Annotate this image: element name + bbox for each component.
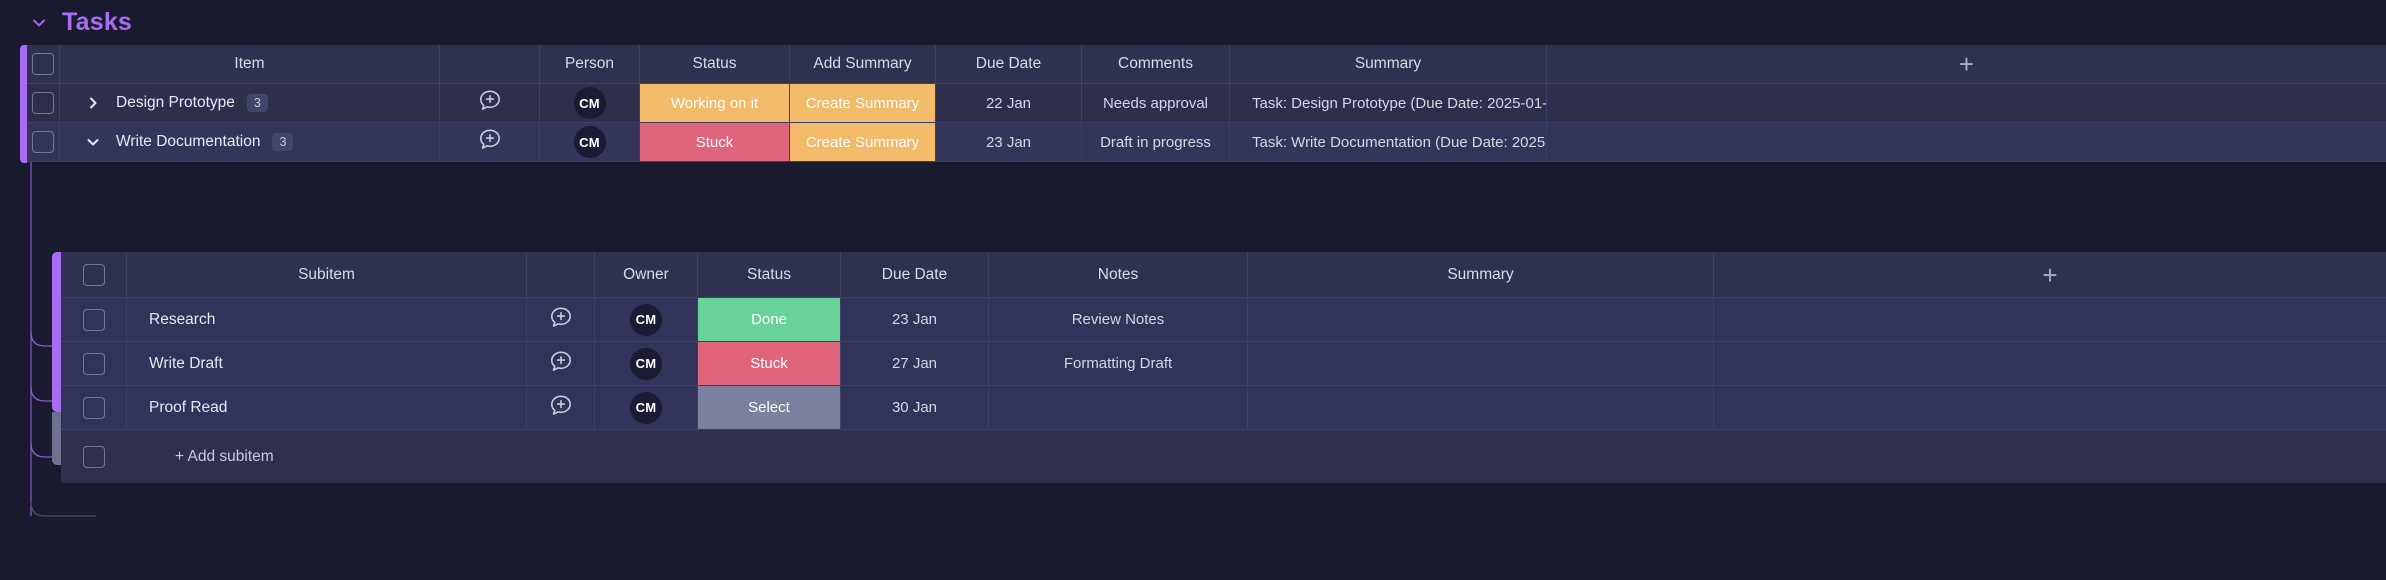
chevron-down-icon[interactable] (28, 12, 50, 34)
subitem-name-cell[interactable]: Proof Read (127, 386, 527, 429)
owner-cell[interactable]: CM (595, 298, 698, 341)
select-all-checkbox[interactable] (32, 53, 54, 75)
summary-text: Task: Write Documentation (Due Date: 202… (1252, 134, 1547, 151)
column-header-subitem-due-date[interactable]: Due Date (841, 252, 989, 297)
status-cell[interactable]: Working on it (640, 84, 790, 122)
group-title-row: Tasks (0, 0, 132, 45)
row-checkbox[interactable] (32, 92, 54, 114)
chevron-right-icon[interactable] (82, 92, 104, 114)
subitem-name-cell[interactable]: Research (127, 298, 527, 341)
create-summary-button[interactable]: Create Summary (790, 123, 935, 161)
subitem-due-date-cell[interactable]: 23 Jan (841, 298, 989, 341)
add-column-cell[interactable]: + (1547, 45, 2386, 83)
add-subitem-cell[interactable]: + Add subitem (127, 430, 2386, 483)
subitem-label: Write Draft (149, 355, 223, 373)
avatar[interactable]: CM (630, 304, 662, 336)
item-name-cell[interactable]: Write Documentation 3 (60, 123, 440, 161)
item-label: Design Prototype (116, 94, 235, 112)
comments-cell[interactable]: Draft in progress (1082, 123, 1230, 161)
board-canvas: Tasks Item Person Status (0, 0, 2386, 580)
item-name-cell[interactable]: Design Prototype 3 (60, 84, 440, 122)
row-checkbox[interactable] (83, 446, 105, 468)
subitem-chat-cell[interactable] (527, 386, 595, 429)
notes-cell[interactable]: Formatting Draft (989, 342, 1248, 385)
plus-icon[interactable]: + (2042, 262, 2057, 288)
subitem-status-cell[interactable]: Select (698, 386, 841, 429)
subitem-select-cell (61, 386, 127, 429)
subitem-select-cell (61, 298, 127, 341)
subitem-status-cell[interactable]: Stuck (698, 342, 841, 385)
owner-cell[interactable]: CM (595, 342, 698, 385)
subitem-summary-cell[interactable] (1248, 342, 1714, 385)
subitem-select-cell (61, 342, 127, 385)
add-comment-icon[interactable] (548, 349, 574, 379)
row-select-cell (27, 123, 60, 161)
status-badge[interactable]: Stuck (640, 123, 789, 161)
status-cell[interactable]: Stuck (640, 123, 790, 161)
subitems-accent-bar-inactive (52, 412, 61, 465)
column-header-due-date[interactable]: Due Date (936, 45, 1082, 83)
row-spacer-cell (1547, 123, 2386, 161)
owner-cell[interactable]: CM (595, 386, 698, 429)
add-subitem-select-cell (61, 430, 127, 483)
summary-text: Task: Design Prototype (Due Date: 2025-0… (1252, 95, 1547, 112)
subitem-label: Research (149, 311, 215, 329)
status-badge[interactable]: Working on it (640, 84, 789, 122)
column-header-subitem[interactable]: Subitem (127, 252, 527, 297)
column-header-item[interactable]: Item (60, 45, 440, 83)
subitem-summary-cell[interactable] (1248, 298, 1714, 341)
add-comment-icon[interactable] (477, 127, 503, 157)
create-summary-button[interactable]: Create Summary (790, 84, 935, 122)
subitem-row[interactable]: Proof Read CM Select 30 Jan (61, 386, 2386, 430)
subitem-row[interactable]: Write Draft CM Stuck 27 Jan (61, 342, 2386, 386)
row-checkbox[interactable] (83, 397, 105, 419)
plus-icon[interactable]: + (1959, 51, 1974, 77)
subitem-spacer-cell (1714, 342, 2386, 385)
chat-cell[interactable] (440, 123, 540, 161)
subitem-count-badge: 3 (272, 133, 293, 151)
status-badge[interactable]: Stuck (698, 342, 840, 385)
column-header-person[interactable]: Person (540, 45, 640, 83)
subitems-accent-bar (52, 252, 61, 412)
table-row[interactable]: Write Documentation 3 CM Stuck (27, 123, 2386, 162)
summary-cell[interactable]: Task: Design Prototype (Due Date: 2025-0… (1230, 84, 1547, 122)
select-all-cell (27, 45, 60, 83)
subitems-table: Subitem Owner Status Due Date Notes Summ… (52, 252, 2386, 370)
column-header-comments[interactable]: Comments (1082, 45, 1230, 83)
subitem-spacer-cell (1714, 298, 2386, 341)
add-subitem-row[interactable]: + Add subitem (61, 430, 2386, 483)
subitem-summary-cell[interactable] (1248, 386, 1714, 429)
subitems-table-header: Subitem Owner Status Due Date Notes Summ… (61, 252, 2386, 298)
subitem-status-cell[interactable]: Done (698, 298, 841, 341)
notes-cell[interactable] (989, 386, 1248, 429)
row-checkbox[interactable] (32, 131, 54, 153)
status-badge[interactable]: Select (698, 386, 840, 429)
subitem-add-column-cell[interactable]: + (1714, 252, 2386, 297)
column-header-notes[interactable]: Notes (989, 252, 1248, 297)
column-header-subitem-status[interactable]: Status (698, 252, 841, 297)
due-date-cell[interactable]: 22 Jan (936, 84, 1082, 122)
summary-cell[interactable]: Task: Write Documentation (Due Date: 202… (1230, 123, 1547, 161)
row-select-cell (27, 84, 60, 122)
avatar[interactable]: CM (630, 392, 662, 424)
person-cell[interactable]: CM (540, 84, 640, 122)
item-label: Write Documentation (116, 133, 260, 151)
add-summary-cell[interactable]: Create Summary (790, 123, 936, 161)
avatar[interactable]: CM (574, 126, 606, 158)
subitem-label: Proof Read (149, 399, 227, 417)
group-title[interactable]: Tasks (62, 8, 132, 37)
notes-cell[interactable]: Review Notes (989, 298, 1248, 341)
subitem-due-date-cell[interactable]: 30 Jan (841, 386, 989, 429)
column-header-chat (440, 45, 540, 83)
subitem-select-all-cell (61, 252, 127, 297)
chevron-down-icon[interactable] (82, 131, 104, 153)
bottom-spacer (0, 568, 2386, 580)
subitem-chat-cell[interactable] (527, 298, 595, 341)
subitem-count-badge: 3 (247, 94, 268, 112)
column-header-subitem-chat (527, 252, 595, 297)
comments-cell[interactable]: Needs approval (1082, 84, 1230, 122)
column-header-status[interactable]: Status (640, 45, 790, 83)
add-comment-icon[interactable] (477, 88, 503, 118)
group-accent-bar (20, 45, 27, 163)
column-header-summary[interactable]: Summary (1230, 45, 1547, 83)
row-checkbox[interactable] (83, 353, 105, 375)
column-header-owner[interactable]: Owner (595, 252, 698, 297)
subitem-row[interactable]: Research CM Done 23 Jan (61, 298, 2386, 342)
add-subitem-label[interactable]: + Add subitem (127, 448, 274, 466)
add-comment-icon[interactable] (548, 393, 574, 423)
table-row[interactable]: Design Prototype 3 CM Working on it (27, 84, 2386, 123)
add-comment-icon[interactable] (548, 305, 574, 335)
subitem-due-date-cell[interactable]: 27 Jan (841, 342, 989, 385)
status-badge[interactable]: Done (698, 298, 840, 341)
subitem-name-cell[interactable]: Write Draft (127, 342, 527, 385)
column-header-add-summary[interactable]: Add Summary (790, 45, 936, 83)
chat-cell[interactable] (440, 84, 540, 122)
due-date-cell[interactable]: 23 Jan (936, 123, 1082, 161)
row-spacer-cell (1547, 84, 2386, 122)
person-cell[interactable]: CM (540, 123, 640, 161)
subitem-spacer-cell (1714, 386, 2386, 429)
row-checkbox[interactable] (83, 309, 105, 331)
add-summary-cell[interactable]: Create Summary (790, 84, 936, 122)
avatar[interactable]: CM (630, 348, 662, 380)
subitem-chat-cell[interactable] (527, 342, 595, 385)
tasks-table-header: Item Person Status Add Summary Due Date … (27, 45, 2386, 84)
select-all-checkbox[interactable] (83, 264, 105, 286)
column-header-subitem-summary[interactable]: Summary (1248, 252, 1714, 297)
avatar[interactable]: CM (574, 87, 606, 119)
